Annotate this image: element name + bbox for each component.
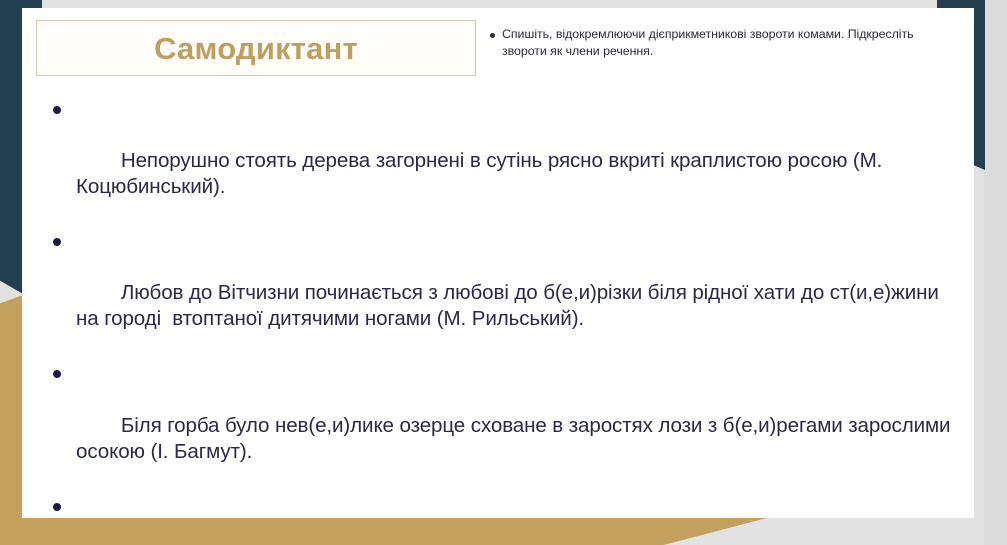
title-box: Самодиктант: [36, 20, 476, 76]
sentence-list: Непорушно стоять дерева загорнені в суті…: [42, 96, 960, 545]
list-item-text: Любов до Вітчизни починається з любові д…: [76, 281, 944, 330]
instruction-block: Спишіть, відокремлюючи дієприкметникові …: [490, 26, 960, 60]
page-title: Самодиктант: [154, 33, 358, 64]
list-item: Біля горба було нев(е,и)лике озерце схов…: [42, 360, 960, 490]
list-item: Непорушно стоять дерева загорнені в суті…: [42, 96, 960, 226]
list-item-text: Біля горба було нев(е,и)лике озерце схов…: [76, 414, 956, 463]
bullet-dot-icon: [53, 370, 61, 378]
bullet-dot-icon: [53, 106, 61, 114]
instruction-bullet-icon: [490, 33, 495, 38]
bullet-dot-icon: [53, 238, 61, 246]
bullet-dot-icon: [53, 503, 61, 511]
slide-canvas: Самодиктант Спишіть, відокремлюючи дієпр…: [0, 0, 1007, 545]
slide-content-card: Самодиктант Спишіть, відокремлюючи дієпр…: [22, 8, 974, 518]
list-item-text: Непорушно стоять дерева загорнені в суті…: [76, 149, 888, 198]
right-grey-margin-decoration: [984, 0, 1007, 545]
instruction-text: Спишіть, відокремлюючи дієприкметникові …: [502, 26, 960, 60]
list-item: Любов до Вітчизни починається з любові д…: [42, 228, 960, 358]
slide-header: Самодиктант Спишіть, відокремлюючи дієпр…: [22, 8, 974, 90]
list-item: Повітря настояне на ароматах горобини й …: [42, 493, 960, 545]
